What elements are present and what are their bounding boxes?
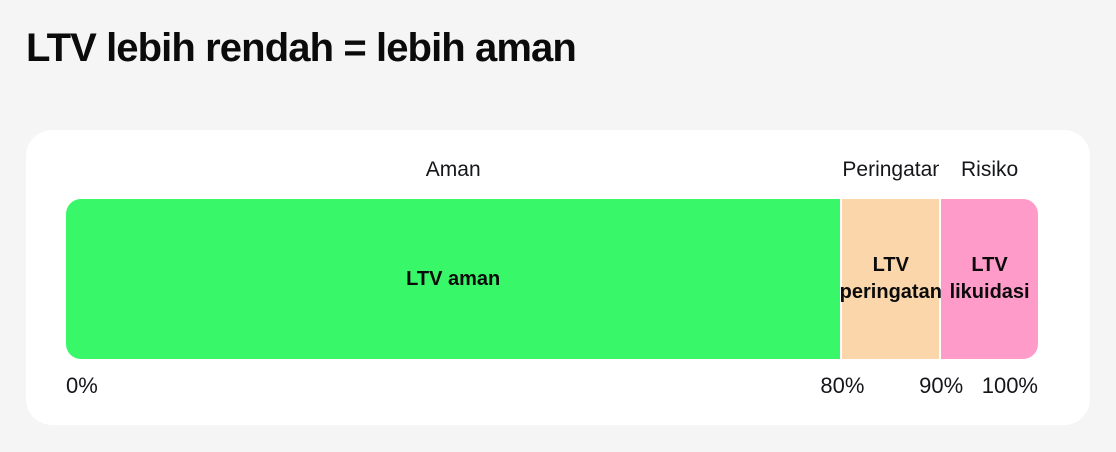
bar-segment-peringatan: LTV peringatan [842, 199, 939, 359]
bar-segment-label-risiko: LTV likuidasi [944, 252, 1036, 306]
bar-segment-risiko: LTV likuidasi [941, 199, 1038, 359]
axis-tick-100: 100% [982, 370, 1038, 402]
zone-label-peringatan: Peringatan [842, 155, 939, 185]
axis-tick-0: 0% [66, 370, 98, 402]
bar-segment-aman: LTV aman [66, 199, 840, 359]
axis-tick-90: 90% [919, 370, 963, 402]
axis-tick-80: 80% [820, 370, 864, 402]
bar-segment-label-peringatan: LTV peringatan [834, 252, 948, 306]
axis-tick-row: 0% 80% 90% 100% [66, 370, 1038, 402]
bar-segment-label-aman: LTV aman [400, 266, 506, 293]
page-title: LTV lebih rendah = lebih aman [26, 24, 576, 72]
zone-label-row: Aman Peringatan Risiko [66, 155, 1038, 185]
ltv-stacked-bar: LTV aman LTV peringatan LTV likuidasi [66, 199, 1038, 359]
zone-label-risiko: Risiko [941, 155, 1038, 185]
zone-label-aman: Aman [66, 155, 840, 185]
ltv-chart-card: Aman Peringatan Risiko LTV aman LTV peri… [26, 130, 1090, 425]
